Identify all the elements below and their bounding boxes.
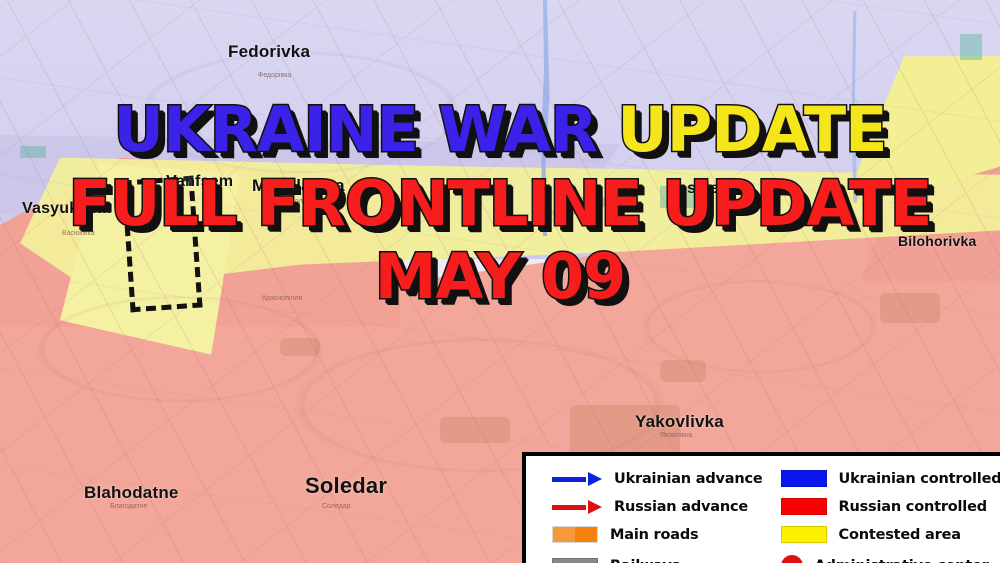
legend-item-label: Ukrainian controlled [839, 471, 1000, 487]
legend-item-label: Administrative center [815, 558, 989, 563]
blue-arrow-icon [552, 472, 602, 486]
red-arrow-icon [552, 500, 602, 514]
legend-item-label: Russian advance [614, 499, 748, 515]
legend-item: Russian controlled [781, 498, 1000, 515]
legend-item-label: Main roads [610, 527, 698, 543]
red-swatch-icon [781, 498, 827, 515]
city-label: Vesele [668, 180, 719, 198]
legend-item-label: Russian controlled [839, 499, 987, 515]
legend-item-label: Contested area [839, 527, 961, 543]
legend-item: Main roads [552, 526, 763, 543]
video-thumbnail: FedorivkaVanfsemMykolaivkaVeseleVasyukiv… [0, 0, 1000, 563]
city-label: Vanfsem [166, 173, 233, 191]
map-legend: Ukrainian advanceUkrainian controlledRus… [522, 452, 1000, 563]
city-label: Mykolaivka [252, 176, 345, 196]
forest-patch [580, 197, 632, 207]
legend-item: Administrative center [781, 555, 1000, 563]
forest-patch [960, 34, 982, 60]
city-label: Vasyukivka [22, 200, 110, 218]
urban-patch [280, 338, 320, 356]
city-label: Blahodatne [84, 483, 179, 503]
urban-patch [660, 360, 706, 382]
minor-place-label: Соледар [322, 503, 351, 510]
dashed-highlight-box [121, 176, 202, 313]
railway-icon [552, 558, 598, 563]
legend-item: Railways [552, 555, 763, 563]
forest-patch [20, 146, 46, 158]
city-label: Yakovlivka [635, 412, 724, 432]
minor-place-label: Васюківка [62, 230, 95, 237]
legend-item: Contested area [781, 526, 1000, 543]
legend-item-label: Ukrainian advance [614, 471, 763, 487]
red-dot-icon [781, 555, 803, 563]
legend-item: Ukrainian advance [552, 470, 763, 487]
urban-patch [880, 293, 940, 323]
legend-item-label: Railways [610, 558, 680, 563]
urban-patch [440, 417, 510, 443]
minor-place-label: Благодатне [110, 503, 147, 510]
city-label: Bilohorivka [898, 233, 976, 249]
city-label: Fedorivka [228, 42, 310, 62]
orange-road-icon [552, 526, 598, 543]
blue-swatch-icon [781, 470, 827, 487]
legend-item: Ukrainian controlled [781, 470, 1000, 487]
legend-item: Russian advance [552, 498, 763, 515]
minor-place-label: Миколаївка [282, 198, 319, 205]
minor-place-label: Федорівка [258, 72, 291, 79]
city-label: Soledar [305, 473, 387, 499]
minor-place-label: Сіверськ [548, 210, 576, 217]
minor-place-label: Яковлівка [660, 432, 692, 439]
minor-place-label: Краснопілля [262, 295, 302, 302]
yellow-swatch-icon [781, 526, 827, 543]
